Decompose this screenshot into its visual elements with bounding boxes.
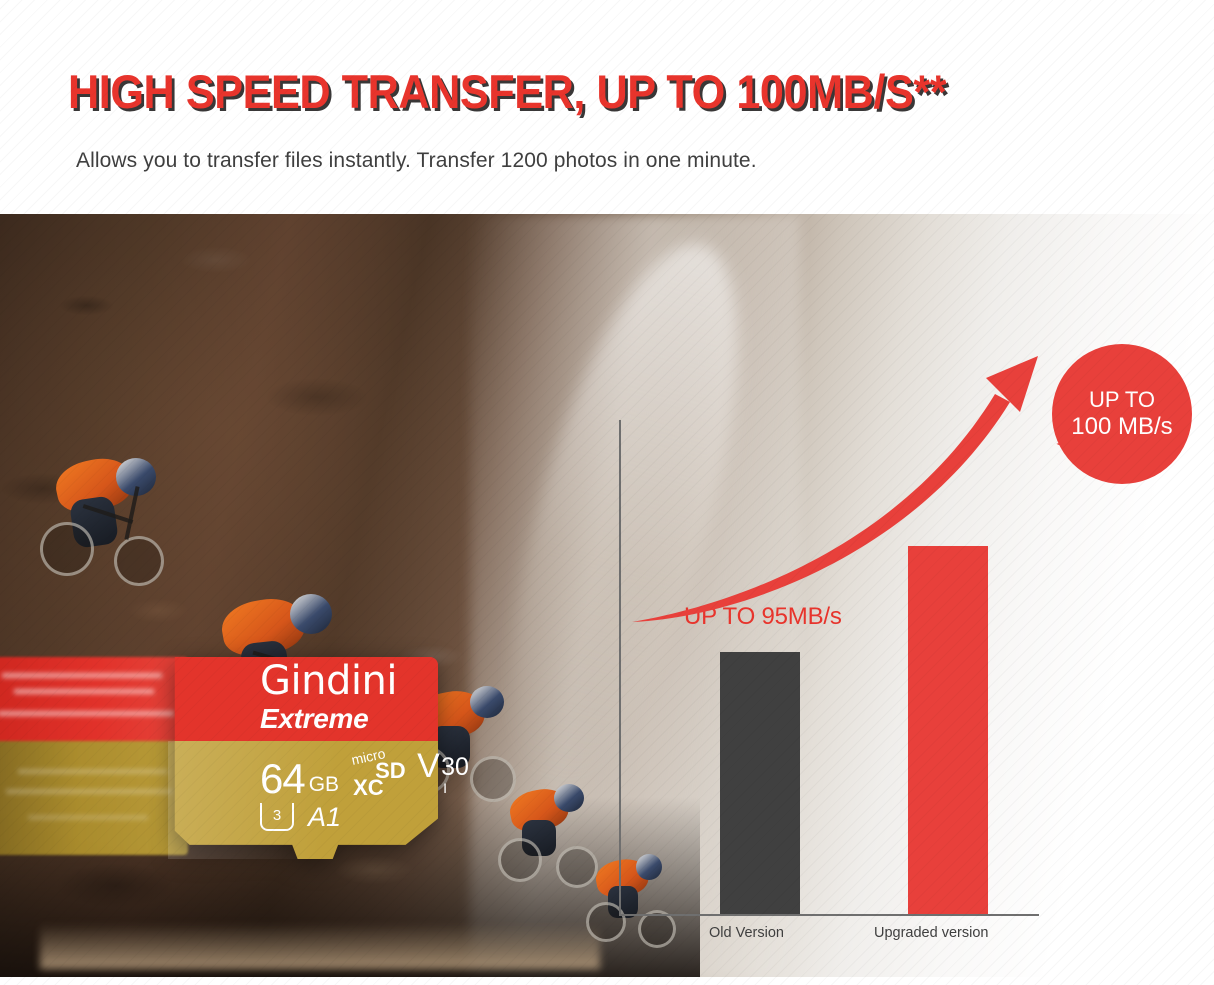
product-feature-banner: HIGH SPEED TRANSFER, UP TO 100MB/S** All… <box>0 0 1214 985</box>
uhs-speed-class-badge: 3 <box>260 803 294 831</box>
bubble-text: UP TO 100 MB/s <box>1052 344 1192 484</box>
trail-gold-band <box>0 741 188 855</box>
sand-strip <box>40 923 600 969</box>
card-capacity-number: 64 <box>260 759 305 799</box>
bubble-line-1: UP TO <box>1089 387 1155 413</box>
microsd-card: Gindini Extreme 64 GB micro SD XC V 30 I… <box>168 657 438 859</box>
app-performance-class-badge: A1 <box>308 804 341 831</box>
chart-label-old-version: Old Version <box>709 925 784 941</box>
uhs-roman-numeral: I <box>443 781 447 795</box>
card-capacity-unit: GB <box>309 774 339 799</box>
microsdxc-logo: micro SD XC <box>351 755 409 799</box>
cyclist-1 <box>38 450 168 580</box>
page-subtitle: Allows you to transfer files instantly. … <box>76 149 757 173</box>
chart-label-upgraded-version: Upgraded version <box>874 925 988 941</box>
video-class-number: 30 <box>441 755 469 780</box>
header-section: HIGH SPEED TRANSFER, UP TO 100MB/S** All… <box>0 0 1214 214</box>
growth-arrow-icon <box>615 350 1055 640</box>
chart-bar-old-version <box>720 652 800 914</box>
card-product-line: Extreme <box>260 705 368 733</box>
speed-callout-bubble: UP TO 100 MB/s <box>1052 344 1192 484</box>
bubble-line-2: 100 MB/s <box>1071 413 1172 441</box>
card-brand-name: Gindini <box>260 661 397 701</box>
video-class-letter: V <box>417 749 440 783</box>
card-badge-row: 3 A1 <box>260 803 341 831</box>
uhs-speed-class-number: 3 <box>273 808 281 824</box>
xc-label: XC <box>353 777 384 799</box>
card-capacity-row: 64 GB micro SD XC V 30 I <box>260 753 473 799</box>
page-title: HIGH SPEED TRANSFER, UP TO 100MB/S** <box>68 68 946 115</box>
chart-x-axis <box>619 914 1039 916</box>
card-motion-blur <box>0 657 188 855</box>
trail-red-band <box>0 657 188 741</box>
video-speed-class-badge: V 30 I <box>417 753 473 799</box>
